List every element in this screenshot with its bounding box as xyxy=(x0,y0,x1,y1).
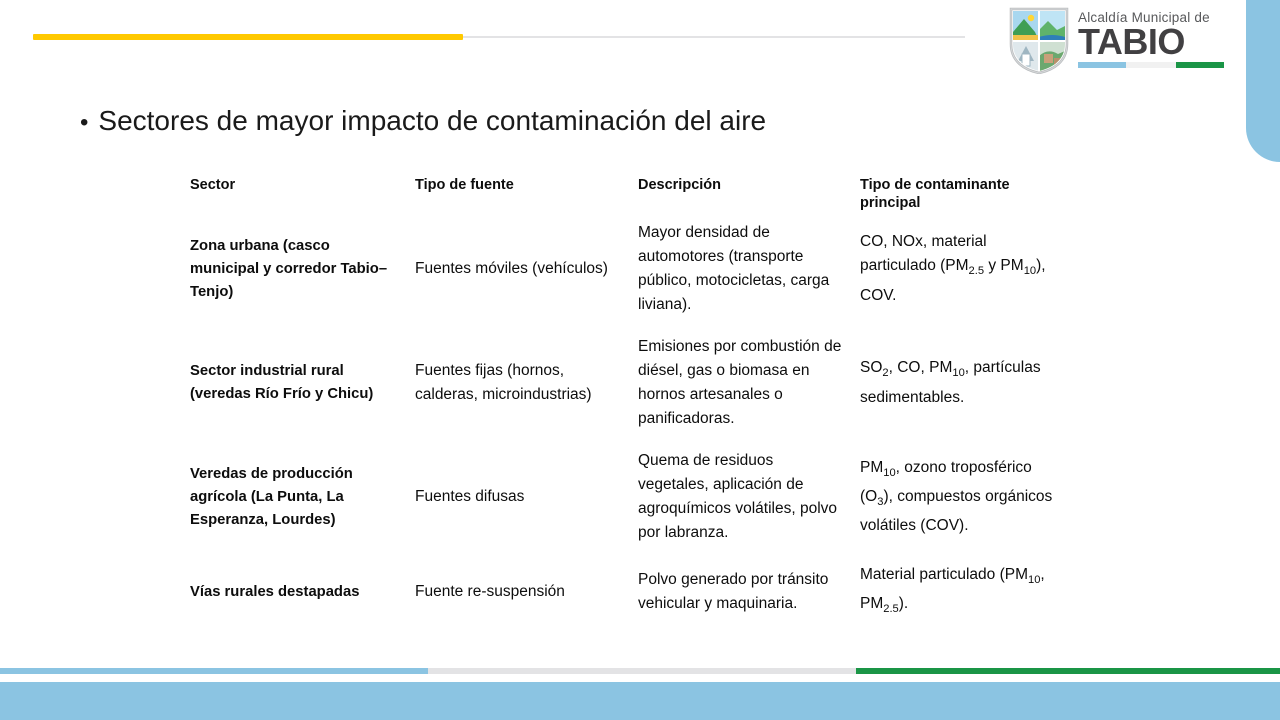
column-header-sector: Sector xyxy=(190,176,415,212)
logo-bar-green xyxy=(1176,62,1224,68)
cell-descripcion: Emisiones por combustión de diésel, gas … xyxy=(638,326,860,440)
table-row: Vías rurales destapadasFuente re-suspens… xyxy=(190,554,1080,630)
title-text: Sectores de mayor impacto de contaminaci… xyxy=(98,104,766,138)
bottom-rule-green-segment xyxy=(856,668,1280,674)
logo-title: TABIO xyxy=(1078,24,1224,60)
cell-sector: Zona urbana (casco municipal y corredor … xyxy=(190,212,415,326)
bottom-rule-blue-segment xyxy=(0,668,428,674)
table-body: Zona urbana (casco municipal y corredor … xyxy=(190,212,1080,630)
bottom-decorative-rule xyxy=(0,668,1280,674)
impact-sectors-table: Sector Tipo de fuente Descripción Tipo d… xyxy=(190,176,1080,630)
cell-sector: Veredas de producción agrícola (La Punta… xyxy=(190,440,415,554)
cell-descripcion: Mayor densidad de automotores (transport… xyxy=(638,212,860,326)
cell-descripcion: Polvo generado por tránsito vehicular y … xyxy=(638,554,860,630)
cell-sector: Vías rurales destapadas xyxy=(190,554,415,630)
column-header-tipo-fuente: Tipo de fuente xyxy=(415,176,638,212)
table-row: Veredas de producción agrícola (La Punta… xyxy=(190,440,1080,554)
page-title: • Sectores de mayor impacto de contamina… xyxy=(80,104,766,138)
cell-contaminante: Material particulado (PM10, PM2.5). xyxy=(860,554,1080,630)
title-bullet-icon: • xyxy=(80,111,88,135)
right-blue-band xyxy=(1246,0,1280,162)
tabio-logo: Alcaldía Municipal de TABIO xyxy=(1008,6,1224,76)
cell-tipo-fuente: Fuente re-suspensión xyxy=(415,554,638,630)
cell-descripcion: Quema de residuos vegetales, aplicación … xyxy=(638,440,860,554)
cell-sector: Sector industrial rural (veredas Río Frí… xyxy=(190,326,415,440)
top-decorative-rule xyxy=(33,34,965,40)
table-row: Zona urbana (casco municipal y corredor … xyxy=(190,212,1080,326)
cell-tipo-fuente: Fuentes difusas xyxy=(415,440,638,554)
column-header-descripcion: Descripción xyxy=(638,176,860,212)
cell-contaminante: CO, NOx, material particulado (PM2.5 y P… xyxy=(860,212,1080,326)
cell-contaminante: PM10, ozono troposférico (O3), compuesto… xyxy=(860,440,1080,554)
logo-bar-blue xyxy=(1078,62,1126,68)
cell-contaminante: SO2, CO, PM10, partículas sedimentables. xyxy=(860,326,1080,440)
cell-tipo-fuente: Fuentes móviles (vehículos) xyxy=(415,212,638,326)
table-row: Sector industrial rural (veredas Río Frí… xyxy=(190,326,1080,440)
tabio-coat-of-arms-icon xyxy=(1008,6,1070,74)
bottom-blue-band xyxy=(0,682,1280,720)
logo-underline-bars xyxy=(1078,62,1224,68)
logo-bar-gray xyxy=(1126,62,1176,68)
cell-tipo-fuente: Fuentes fijas (hornos, calderas, microin… xyxy=(415,326,638,440)
top-rule-yellow-segment xyxy=(33,34,463,40)
column-header-contaminante: Tipo de contaminante principal xyxy=(860,176,1080,212)
table-header-row: Sector Tipo de fuente Descripción Tipo d… xyxy=(190,176,1080,212)
bottom-rule-gray-segment xyxy=(428,668,856,674)
logo-text-block: Alcaldía Municipal de TABIO xyxy=(1078,10,1224,68)
